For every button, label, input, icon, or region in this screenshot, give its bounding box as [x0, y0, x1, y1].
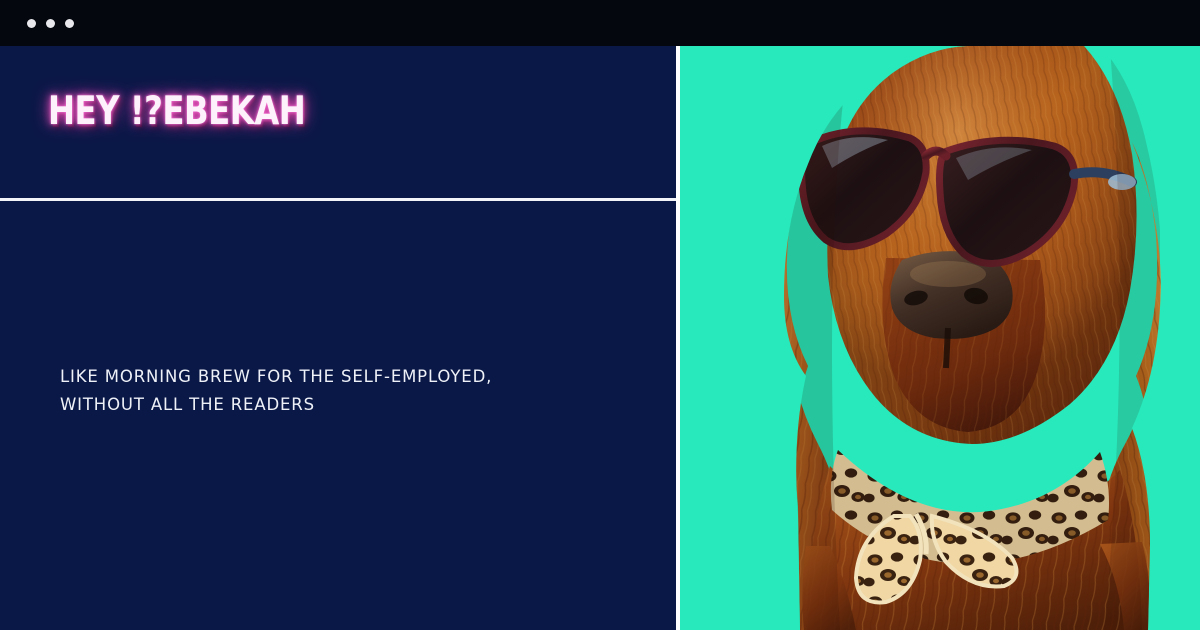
dog-photo [680, 46, 1200, 630]
page-title: HEY !?EBEKAH [48, 92, 305, 131]
window-dot-minimize-icon[interactable] [46, 19, 55, 28]
window-controls [27, 19, 74, 28]
panel-seam [676, 46, 680, 630]
headline-zone: HEY !?EBEKAH [0, 46, 676, 199]
window-dot-close-icon[interactable] [27, 19, 36, 28]
right-teal-panel [680, 46, 1200, 630]
window-titlebar [0, 0, 1200, 46]
window-dot-maximize-icon[interactable] [65, 19, 74, 28]
tagline: LIKE MORNING BREW FOR THE SELF-EMPLOYED,… [60, 363, 620, 419]
tagline-line-2: WITHOUT ALL THE READERS [60, 391, 620, 419]
left-navy-panel: HEY !?EBEKAH LIKE MORNING BREW FOR THE S… [0, 46, 676, 630]
tagline-line-1: LIKE MORNING BREW FOR THE SELF-EMPLOYED, [60, 363, 620, 391]
screenshot-frame: HEY !?EBEKAH LIKE MORNING BREW FOR THE S… [0, 0, 1200, 630]
subhead-zone: LIKE MORNING BREW FOR THE SELF-EMPLOYED,… [0, 201, 676, 630]
split-stage: HEY !?EBEKAH LIKE MORNING BREW FOR THE S… [0, 46, 1200, 630]
